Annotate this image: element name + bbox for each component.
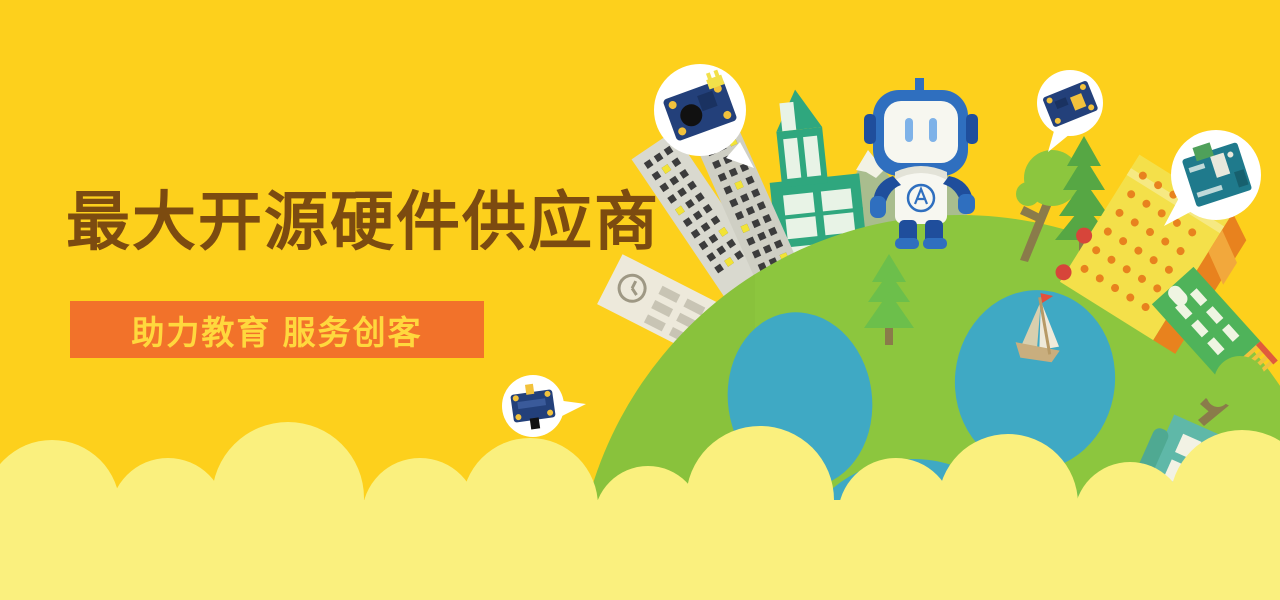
robot-eye-left [905, 118, 913, 142]
robot-face [884, 101, 958, 163]
banner-illustration [0, 0, 1280, 600]
promo-banner: 最大开源硬件供应商 助力教育 服务创客 [0, 0, 1280, 600]
robot-eye-right [929, 118, 937, 142]
